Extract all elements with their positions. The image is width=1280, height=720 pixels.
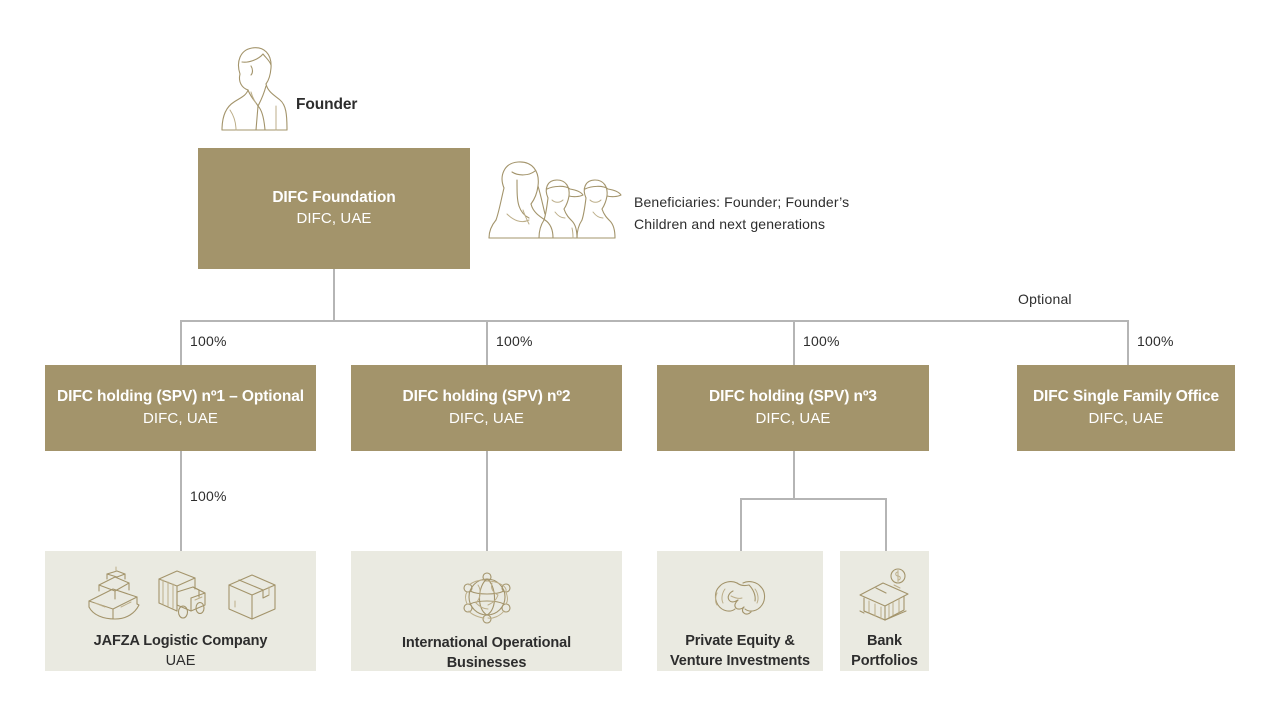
node-subtitle: DIFC, UAE <box>296 208 371 229</box>
node-title: JAFZA Logistic Company <box>94 631 268 651</box>
label-pct-spv1: 100% <box>190 333 227 349</box>
node-subtitle: UAE <box>166 651 196 671</box>
node-title: DIFC Single Family Office <box>1033 387 1219 408</box>
node-title-line2: Portfolios <box>851 651 918 671</box>
node-title: DIFC holding (SPV) nº2 <box>403 387 571 408</box>
asset-icon-group <box>856 567 914 623</box>
connector-spv3-to-private-equity <box>740 498 742 551</box>
node-international-operational-businesses[interactable]: International Operational Businesses <box>351 551 622 671</box>
label-optional: Optional <box>1018 291 1072 307</box>
connector-spv3-to-bank <box>885 498 887 551</box>
node-title: DIFC holding (SPV) nº3 <box>709 387 877 408</box>
connector-drop-spv1 <box>180 320 182 365</box>
label-pct-spv3: 100% <box>803 333 840 349</box>
org-chart-canvas: Founder DIFC Foundation DIFC, UAE <box>0 0 1280 720</box>
package-box-icon <box>225 571 279 623</box>
node-difc-foundation[interactable]: DIFC Foundation DIFC, UAE <box>198 148 470 269</box>
connector-horizontal-bus <box>180 320 1128 322</box>
globe-network-icon <box>458 567 516 625</box>
connector-spv1-to-jafza <box>180 451 182 551</box>
asset-icon-group <box>83 567 279 623</box>
label-pct-sfo: 100% <box>1137 333 1174 349</box>
node-title-line2: Venture Investments <box>670 651 810 671</box>
label-pct-spv2: 100% <box>496 333 533 349</box>
beneficiaries-text: Beneficiaries: Founder; Founder’s Childr… <box>634 192 849 235</box>
node-title: DIFC Foundation <box>272 188 395 209</box>
node-difc-single-family-office[interactable]: DIFC Single Family Office DIFC, UAE <box>1017 365 1235 451</box>
node-title-line1: Private Equity & <box>685 631 795 651</box>
connector-spv3-drop <box>793 451 795 499</box>
node-difc-holding-spv3[interactable]: DIFC holding (SPV) nº3 DIFC, UAE <box>657 365 929 451</box>
node-subtitle: DIFC, UAE <box>1088 408 1163 429</box>
node-subtitle: DIFC, UAE <box>755 408 830 429</box>
node-private-equity-venture-investments[interactable]: Private Equity & Venture Investments <box>657 551 823 671</box>
connector-drop-spv3 <box>793 320 795 365</box>
founder-label: Founder <box>296 96 357 114</box>
connector-foundation-drop <box>333 269 335 321</box>
node-jafza-logistic-company[interactable]: JAFZA Logistic Company UAE <box>45 551 316 671</box>
asset-icon-group <box>458 567 516 625</box>
asset-icon-group <box>709 567 771 623</box>
bank-building-icon <box>856 567 914 623</box>
connector-drop-sfo <box>1127 320 1129 365</box>
beneficiaries-icon <box>487 158 622 240</box>
connector-spv2-to-international <box>486 451 488 551</box>
node-difc-holding-spv1[interactable]: DIFC holding (SPV) nº1 – Optional DIFC, … <box>45 365 316 451</box>
node-title-line2: Businesses <box>447 653 527 673</box>
node-title: DIFC holding (SPV) nº1 – Optional <box>57 387 304 408</box>
label-pct-spv1-jafza: 100% <box>190 488 227 504</box>
cargo-ship-icon <box>83 571 145 623</box>
connector-spv3-split-bar <box>740 498 886 500</box>
node-bank-portfolios[interactable]: Bank Portfolios <box>840 551 929 671</box>
node-title-line1: International Operational <box>402 633 571 653</box>
node-subtitle: DIFC, UAE <box>143 408 218 429</box>
connector-drop-spv2 <box>486 320 488 365</box>
founder-icon <box>218 40 290 136</box>
node-title-line1: Bank <box>867 631 902 651</box>
node-difc-holding-spv2[interactable]: DIFC holding (SPV) nº2 DIFC, UAE <box>351 365 622 451</box>
node-subtitle: DIFC, UAE <box>449 408 524 429</box>
delivery-truck-icon <box>155 567 215 623</box>
handshake-icon <box>709 569 771 623</box>
